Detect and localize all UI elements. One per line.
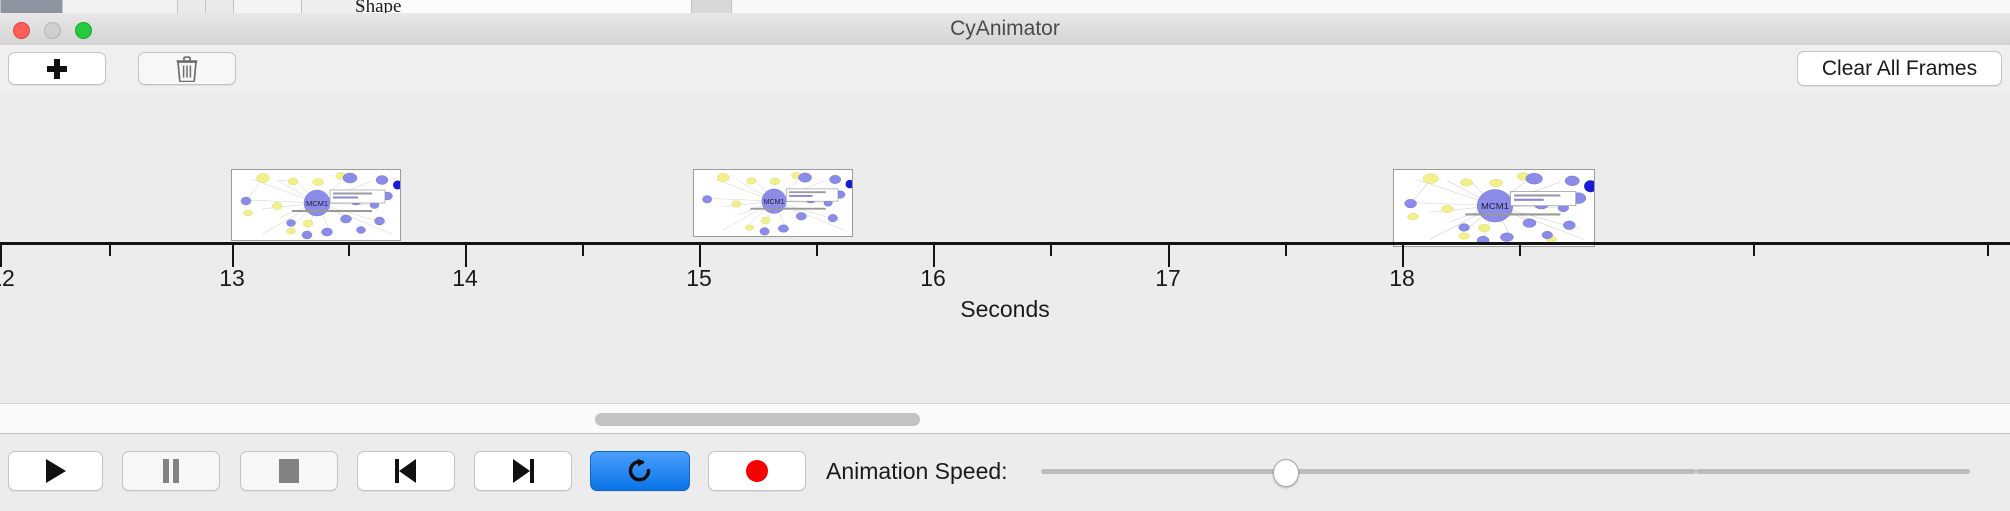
timeline-axis-label: Seconds [0,296,2010,323]
timeline-scrollbar[interactable] [0,403,2010,434]
window-title: CyAnimator [0,13,2010,45]
bg-tab-5 [301,0,363,13]
ruler-tick-minor [1519,245,1521,256]
bg-tab-4 [233,0,303,13]
network-graph-icon: MCM1 [232,170,401,241]
bg-tab-7 [691,0,733,13]
ruler-label: 17 [1155,265,1181,292]
bg-tab-8 [731,0,2010,13]
pause-icon [162,459,180,483]
stop-icon [279,459,299,483]
ruler-tick-major [699,245,701,267]
timeline-panel[interactable]: MCM1 [0,91,2010,345]
svg-text:MCM1: MCM1 [764,199,785,206]
frame-thumbnail[interactable]: MCM1 [693,169,853,237]
add-frame-button[interactable] [8,52,106,85]
ruler-label: 13 [219,265,245,292]
ruler-tick-minor [816,245,818,256]
bg-tab-selected [0,0,64,13]
network-graph-icon: MCM1 [694,170,853,237]
thumbnail-image: MCM1 [1393,169,1595,247]
ruler-tick-minor [1050,245,1052,256]
bg-tab-3 [205,0,235,13]
ruler-tick-major [933,245,935,267]
bg-tab-1 [62,0,179,13]
animation-speed-slider-track-right[interactable] [1696,469,1970,474]
delete-frame-button[interactable] [138,52,236,85]
playback-control-bar: Animation Speed: [0,433,2010,511]
timeline-ruler-baseline [0,242,2010,245]
ruler-tick-minor [582,245,584,256]
animation-speed-slider-track[interactable] [1041,469,1696,474]
animation-speed-slider-knob[interactable] [1273,459,1299,487]
scrollbar-thumb[interactable] [595,413,920,426]
thumbnail-image: MCM1 [231,169,401,241]
ruler-tick-major [1402,245,1404,267]
ruler-label: 16 [920,265,946,292]
svg-text:MCM1: MCM1 [1481,201,1509,211]
ruler-tick-major [0,245,2,267]
thumbnail-image: MCM1 [693,169,853,237]
play-icon [46,459,66,483]
title-bar: CyAnimator [0,13,2010,46]
ruler-tick-major [1168,245,1170,267]
ruler-label: 15 [686,265,712,292]
frame-thumbnail[interactable]: MCM1 [1393,169,1595,247]
stop-button[interactable] [240,451,338,491]
toolbar: Clear All Frames [0,45,2010,92]
ruler-tick-major [232,245,234,267]
plus-icon [47,59,67,79]
frame-thumbnail[interactable]: MCM1 [231,169,401,241]
ruler-label: 18 [1389,265,1415,292]
record-button[interactable] [708,451,806,491]
clear-all-frames-label: Clear All Frames [1822,57,1977,81]
record-icon [746,460,768,482]
skip-next-icon [512,459,534,483]
loop-button[interactable] [590,451,690,491]
ruler-tick-major [465,245,467,267]
bg-window-label: Shape [355,0,401,14]
network-graph-icon: MCM1 [1394,170,1595,247]
trash-icon [176,56,198,82]
next-frame-button[interactable] [474,451,572,491]
animation-speed-label: Animation Speed: [826,451,1008,491]
ruler-tick-minor [1285,245,1287,256]
play-button[interactable] [8,451,103,491]
ruler-tick-minor [348,245,350,256]
bg-tab-6 [361,0,693,13]
skip-previous-icon [395,459,417,483]
ruler-tick-minor [1753,245,1755,256]
bg-tab-2 [177,0,207,13]
ruler-tick-minor [109,245,111,256]
clear-all-frames-button[interactable]: Clear All Frames [1797,51,2002,86]
svg-text:MCM1: MCM1 [306,199,328,208]
previous-frame-button[interactable] [357,451,455,491]
ruler-tick-minor [1987,245,1989,256]
loop-icon [627,457,653,485]
pause-button[interactable] [122,451,220,491]
ruler-label: 14 [452,265,478,292]
ruler-label: 12 [0,265,15,292]
background-window-sliver: Shape [0,0,2010,14]
